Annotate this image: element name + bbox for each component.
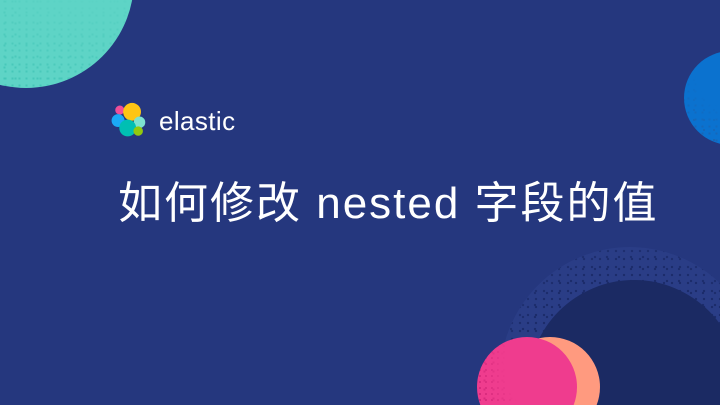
blue-circle-decoration <box>684 51 720 145</box>
elastic-brand-lockup: elastic <box>108 100 236 142</box>
slide-title: 如何修改 nested 字段的值 <box>118 178 659 230</box>
navy-halo-stipple-decoration <box>500 247 720 405</box>
blue-circle-stipple-decoration <box>684 51 720 145</box>
navy-circle-decoration <box>528 280 720 405</box>
elastic-wordmark: elastic <box>159 108 236 134</box>
navy-halo-decoration <box>500 247 720 405</box>
teal-circle-decoration <box>0 0 134 88</box>
pink-circle-decoration <box>477 337 577 405</box>
elastic-logo-icon <box>108 100 150 142</box>
pink-circle-stipple-decoration <box>477 337 577 405</box>
title-slide: elastic 如何修改 nested 字段的值 <box>0 0 720 405</box>
salmon-circle-decoration <box>500 337 600 405</box>
teal-circle-stipple-decoration <box>0 0 134 88</box>
